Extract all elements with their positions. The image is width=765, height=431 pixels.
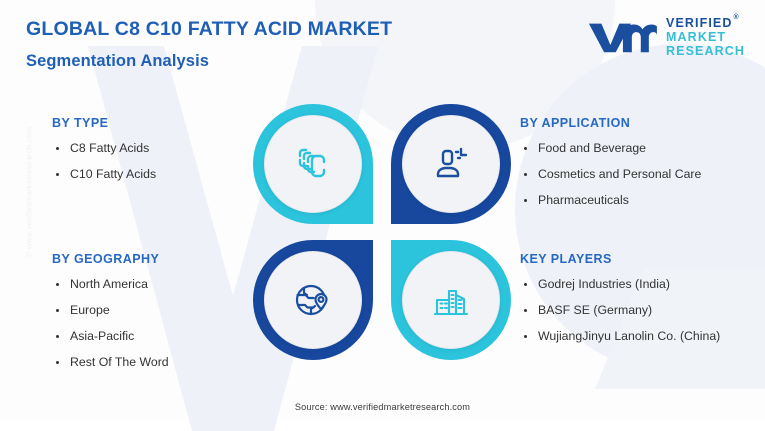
icon-circle-type bbox=[264, 115, 362, 213]
icon-circle-players bbox=[402, 251, 500, 349]
list-item: Pharmaceuticals bbox=[520, 191, 701, 210]
segment-heading-application: BY APPLICATION bbox=[520, 116, 701, 130]
segment-block-type: BY TYPE C8 Fatty Acids C10 Fatty Acids bbox=[52, 116, 156, 191]
edge-watermark: © www.verifiedmarketresearch.com bbox=[25, 88, 34, 258]
segment-list-players: Godrej Industries (India) BASF SE (Germa… bbox=[520, 275, 745, 346]
user-profile-icon bbox=[430, 143, 472, 185]
brand-logo: VERIFIED® MARKET RESEARCH bbox=[587, 16, 745, 58]
segment-heading-geography: BY GEOGRAPHY bbox=[52, 252, 169, 266]
logo-wordmark: VERIFIED® MARKET RESEARCH bbox=[666, 16, 745, 58]
pinwheel-quadrant-geography[interactable] bbox=[253, 240, 373, 360]
pinwheel-quadrant-players[interactable] bbox=[391, 240, 511, 360]
segment-block-players: KEY PLAYERS Godrej Industries (India) BA… bbox=[520, 252, 745, 353]
list-item: North America bbox=[52, 275, 169, 294]
icon-circle-geography bbox=[264, 251, 362, 349]
globe-location-pin-icon bbox=[291, 278, 335, 322]
pinwheel-quadrant-application[interactable] bbox=[391, 104, 511, 224]
logo-line-market: MARKET bbox=[666, 30, 745, 44]
source-label: Source: www.verifiedmarketresearch.com bbox=[0, 402, 765, 412]
list-item: C10 Fatty Acids bbox=[52, 165, 156, 184]
segment-list-geography: North America Europe Asia-Pacific Rest O… bbox=[52, 275, 169, 372]
icon-pinwheel bbox=[253, 104, 511, 360]
list-item: Food and Beverage bbox=[520, 139, 701, 158]
header: GLOBAL C8 C10 FATTY ACID MARKET Segmenta… bbox=[26, 18, 392, 71]
list-item: C8 Fatty Acids bbox=[52, 139, 156, 158]
list-item: Asia-Pacific bbox=[52, 327, 169, 346]
list-item: BASF SE (Germany) bbox=[520, 301, 745, 320]
segment-list-type: C8 Fatty Acids C10 Fatty Acids bbox=[52, 139, 156, 184]
icon-circle-application bbox=[402, 115, 500, 213]
infographic-canvas: © www.verifiedmarketresearch.com GLOBAL … bbox=[0, 0, 765, 419]
segment-block-application: BY APPLICATION Food and Beverage Cosmeti… bbox=[520, 116, 701, 217]
page-subtitle: Segmentation Analysis bbox=[26, 52, 392, 71]
layered-cards-icon bbox=[292, 143, 334, 185]
list-item: Cosmetics and Personal Care bbox=[520, 165, 701, 184]
list-item: Europe bbox=[52, 301, 169, 320]
list-item: Godrej Industries (India) bbox=[520, 275, 745, 294]
segment-list-application: Food and Beverage Cosmetics and Personal… bbox=[520, 139, 701, 210]
vmr-logo-mark-icon bbox=[587, 20, 657, 54]
pinwheel-quadrant-type[interactable] bbox=[253, 104, 373, 224]
segment-block-geography: BY GEOGRAPHY North America Europe Asia-P… bbox=[52, 252, 169, 379]
logo-line-research: RESEARCH bbox=[666, 44, 745, 58]
office-buildings-icon bbox=[429, 278, 473, 322]
logo-line-verified: VERIFIED® bbox=[666, 16, 745, 30]
list-item: Rest Of The Word bbox=[52, 353, 169, 372]
segment-heading-players: KEY PLAYERS bbox=[520, 252, 745, 266]
segment-heading-type: BY TYPE bbox=[52, 116, 156, 130]
list-item: WujiangJinyu Lanolin Co. (China) bbox=[520, 327, 745, 346]
page-title: GLOBAL C8 C10 FATTY ACID MARKET bbox=[26, 18, 392, 41]
